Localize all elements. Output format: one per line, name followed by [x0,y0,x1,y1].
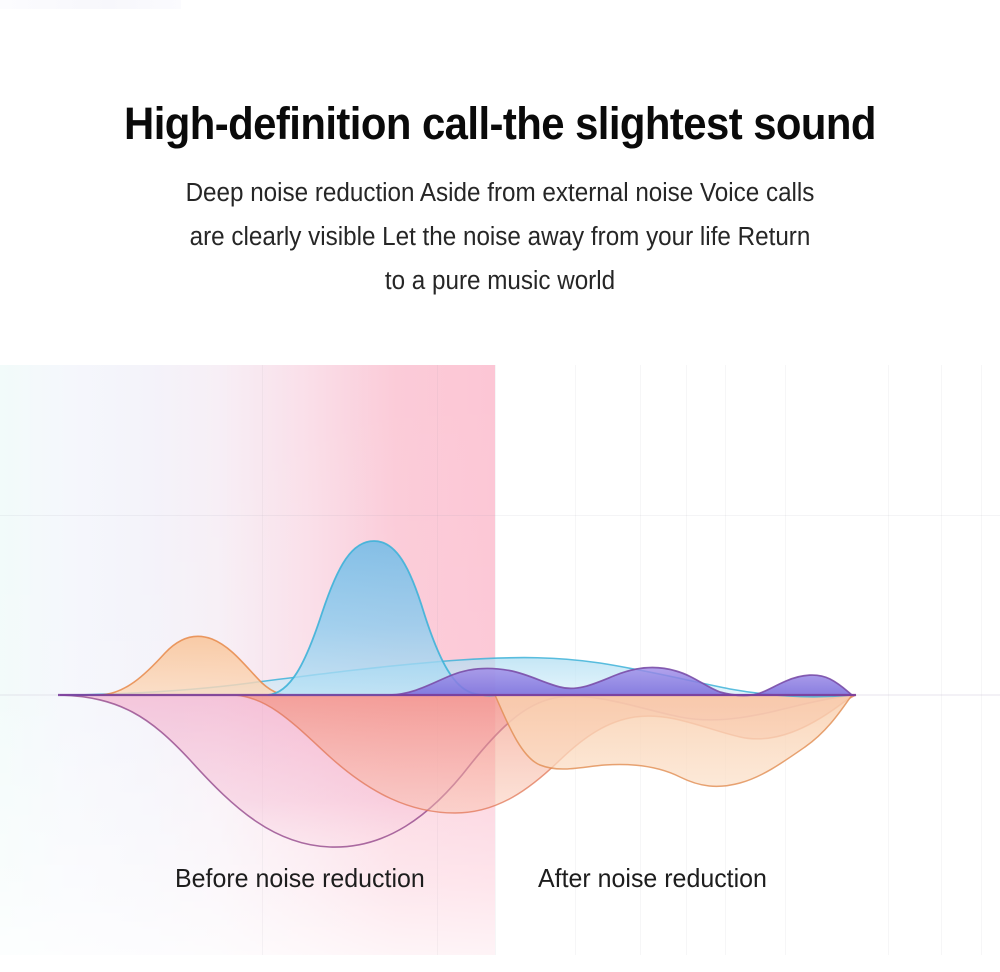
caption-after-noise-reduction: After noise reduction [538,863,767,894]
subtitle-line-1: Deep noise reduction Aside from external… [25,172,975,216]
page-subtitle: Deep noise reduction Aside from external… [25,172,975,304]
header-block: High-definition call-the slightest sound… [0,0,1000,304]
wave-orange-low-after [495,695,852,786]
caption-row: Before noise reduction After noise reduc… [0,863,1000,905]
promo-page: High-definition call-the slightest sound… [0,0,1000,972]
caption-before-noise-reduction: Before noise reduction [175,863,425,894]
wave-orange-peak [100,636,295,695]
subtitle-line-3: to a pure music world [25,260,975,304]
subtitle-line-2: are clearly visible Let the noise away f… [25,216,975,260]
page-title: High-definition call-the slightest sound [35,101,965,146]
waveform-panel: Before noise reduction After noise reduc… [0,365,1000,955]
